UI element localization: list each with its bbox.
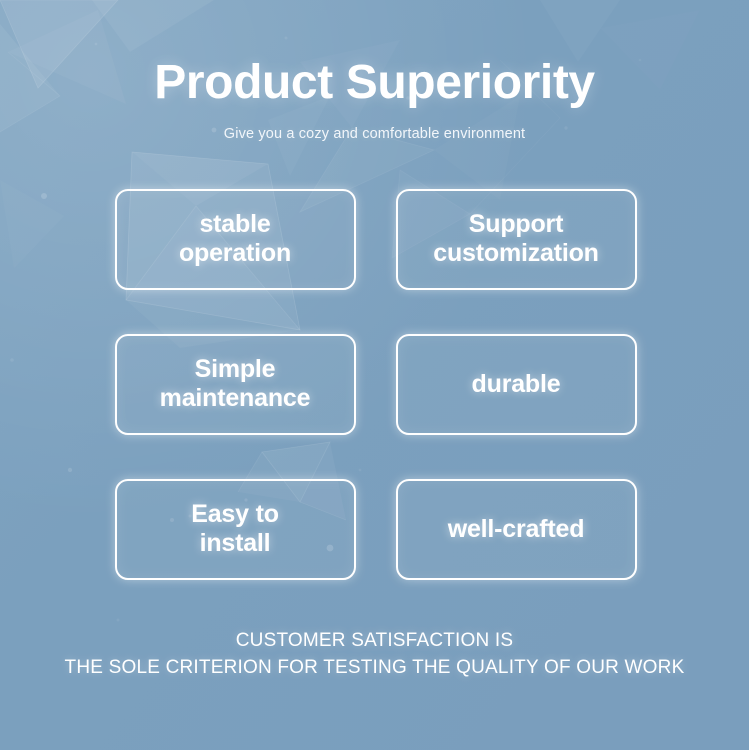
product-superiority-page: Product Superiority Give you a cozy and … [0,0,749,750]
feature-box-simple-maintenance[interactable]: Simplemaintenance [115,334,356,435]
page-subtitle: Give you a cozy and comfortable environm… [0,126,749,142]
feature-box-easy-to-install[interactable]: Easy toinstall [115,479,356,580]
feature-grid: stableoperation Supportcustomization Sim… [115,189,635,580]
footer-line-1: CUSTOMER SATISFACTION IS [0,628,749,655]
feature-label: well-crafted [440,515,593,544]
feature-label: stableoperation [171,210,299,268]
page-footer: CUSTOMER SATISFACTION IS THE SOLE CRITER… [0,628,749,682]
page-title: Product Superiority [0,57,749,109]
feature-label: Easy toinstall [183,500,287,558]
feature-box-durable[interactable]: durable [396,334,637,435]
feature-box-well-crafted[interactable]: well-crafted [396,479,637,580]
feature-box-support-customization[interactable]: Supportcustomization [396,189,637,290]
feature-box-stable-operation[interactable]: stableoperation [115,189,356,290]
feature-label: Simplemaintenance [152,355,319,413]
page-header: Product Superiority Give you a cozy and … [0,0,749,142]
feature-label: Supportcustomization [425,210,606,268]
footer-line-2: THE SOLE CRITERION FOR TESTING THE QUALI… [0,655,749,682]
feature-label: durable [464,370,569,399]
